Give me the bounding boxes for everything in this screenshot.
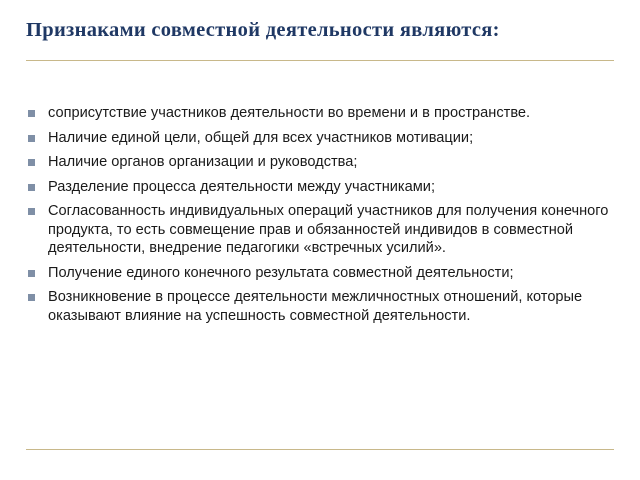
list-item-text: Наличие единой цели, общей для всех учас… — [48, 130, 473, 146]
slide: Признаками совместной деятельности являю… — [0, 0, 640, 480]
list-item-text: Разделение процесса деятельности между у… — [48, 179, 435, 195]
list-item: Наличие единой цели, общей для всех учас… — [26, 129, 618, 148]
list-item-text: Наличие органов организации и руководств… — [48, 154, 357, 170]
list-item-text: Возникновение в процессе деятельности ме… — [48, 289, 582, 324]
square-bullet-icon — [28, 110, 35, 117]
square-bullet-icon — [28, 270, 35, 277]
bullet-list: соприсутствие участников деятельности во… — [26, 104, 618, 325]
list-item-text: Получение единого конечного результата с… — [48, 265, 514, 281]
square-bullet-icon — [28, 159, 35, 166]
title-area: Признаками совместной деятельности являю… — [0, 18, 640, 43]
list-item: соприсутствие участников деятельности во… — [26, 104, 618, 123]
square-bullet-icon — [28, 135, 35, 142]
square-bullet-icon — [28, 294, 35, 301]
list-item: Согласованность индивидуальных операций … — [26, 202, 618, 258]
list-item-text: Согласованность индивидуальных операций … — [48, 203, 608, 256]
list-item: Наличие органов организации и руководств… — [26, 153, 618, 172]
title-divider — [26, 60, 614, 61]
page-title: Признаками совместной деятельности являю… — [26, 18, 614, 43]
square-bullet-icon — [28, 184, 35, 191]
list-item: Возникновение в процессе деятельности ме… — [26, 288, 618, 325]
square-bullet-icon — [28, 208, 35, 215]
list-item: Разделение процесса деятельности между у… — [26, 178, 618, 197]
list-item: Получение единого конечного результата с… — [26, 264, 618, 283]
list-item-text: соприсутствие участников деятельности во… — [48, 105, 530, 121]
bottom-divider — [26, 449, 614, 450]
content-area: соприсутствие участников деятельности во… — [26, 104, 618, 331]
